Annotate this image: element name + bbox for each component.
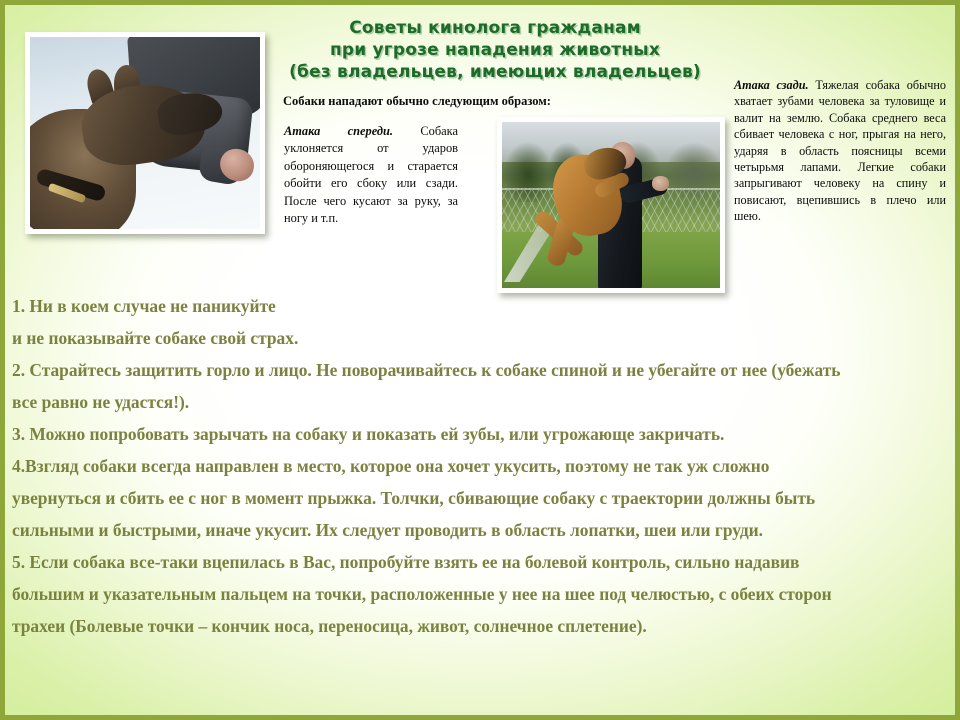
advice-line: 5. Если собака все-таки вцепилась в Вас,… [12, 546, 942, 578]
subtitle: Собаки нападают обычно следующим образом… [283, 93, 513, 109]
handler-hand-shape [652, 176, 669, 191]
caption-rear-attack: Атака сзади. Тяжелая собака обычно хвата… [734, 77, 946, 225]
advice-line: 2. Старайтесь защитить горло и лицо. Не … [12, 354, 942, 386]
advice-list: 1. Ни в коем случае не паникуйте и не по… [12, 290, 942, 642]
caption-rear-attack-text: Тяжелая собака обычно хватает зубами чел… [734, 78, 946, 223]
advice-line: трахеи (Болевые точки – кончик носа, пер… [12, 610, 942, 642]
advice-line: сильными и быстрыми, иначе укусит. Их сл… [12, 514, 942, 546]
caption-front-attack: Атака спереди. Собака уклоняется от удар… [284, 123, 458, 227]
caption-rear-attack-lead: Атака сзади. [734, 78, 809, 92]
photo-front-attack-image [30, 37, 260, 229]
caption-front-attack-lead: Атака спереди. [284, 124, 393, 138]
advice-line: 4.Взгляд собаки всегда направлен в место… [12, 450, 942, 482]
photo-front-attack [25, 32, 265, 234]
photo-rear-attack [497, 117, 725, 293]
advice-line: увернуться и сбить ее с ног в момент пры… [12, 482, 942, 514]
advice-line: большим и указательным пальцем на точки,… [12, 578, 942, 610]
slide-canvas: Советы кинолога гражданам при угрозе нап… [5, 5, 955, 715]
page-title: Советы кинолога гражданам при угрозе нап… [260, 17, 730, 83]
advice-line: 3. Можно попробовать зарычать на собаку … [12, 418, 942, 450]
title-line-1: Советы кинолога гражданам [260, 17, 730, 39]
advice-line: и не показывайте собаке свой страх. [12, 322, 942, 354]
title-line-2: при угрозе нападения животных [260, 39, 730, 61]
photo-rear-attack-image [502, 122, 720, 288]
caption-front-attack-text: Собака уклоняется от ударов обороняющего… [284, 124, 458, 225]
title-line-3: (без владельцев, имеющих владельцев) [260, 61, 730, 83]
advice-line: все равно не удастся!). [12, 386, 942, 418]
advice-line: 1. Ни в коем случае не паникуйте [12, 290, 942, 322]
